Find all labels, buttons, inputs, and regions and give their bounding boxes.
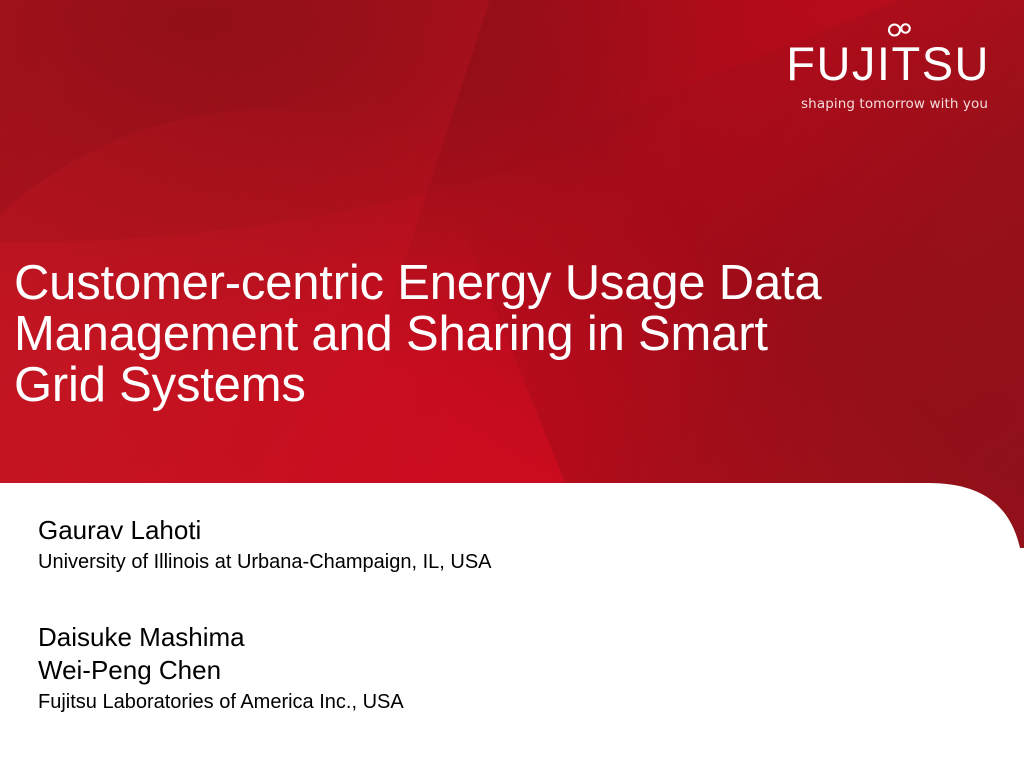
author-name: Gaurav Lahoti xyxy=(38,514,898,547)
fujitsu-logo: FUJITSU shaping tomorrow with you xyxy=(750,26,990,112)
infinity-icon xyxy=(887,22,913,38)
author-name: Daisuke Mashima xyxy=(38,621,898,654)
author-block: Gaurav Lahoti University of Illinois at … xyxy=(38,514,898,717)
author-affiliation: University of Illinois at Urbana-Champai… xyxy=(38,547,898,577)
author-group-1: Gaurav Lahoti University of Illinois at … xyxy=(38,514,898,577)
author-affiliation: Fujitsu Laboratories of America Inc., US… xyxy=(38,687,898,717)
author-group-2: Daisuke Mashima Wei-Peng Chen Fujitsu La… xyxy=(38,621,898,717)
fujitsu-tagline: shaping tomorrow with you xyxy=(750,87,990,112)
author-name: Wei-Peng Chen xyxy=(38,654,898,687)
slide-title: Customer-centric Energy Usage Data Manag… xyxy=(14,258,974,411)
title-slide: FUJITSU shaping tomorrow with you Custom… xyxy=(0,0,1024,768)
fujitsu-wordmark: FUJITSU xyxy=(750,26,990,87)
